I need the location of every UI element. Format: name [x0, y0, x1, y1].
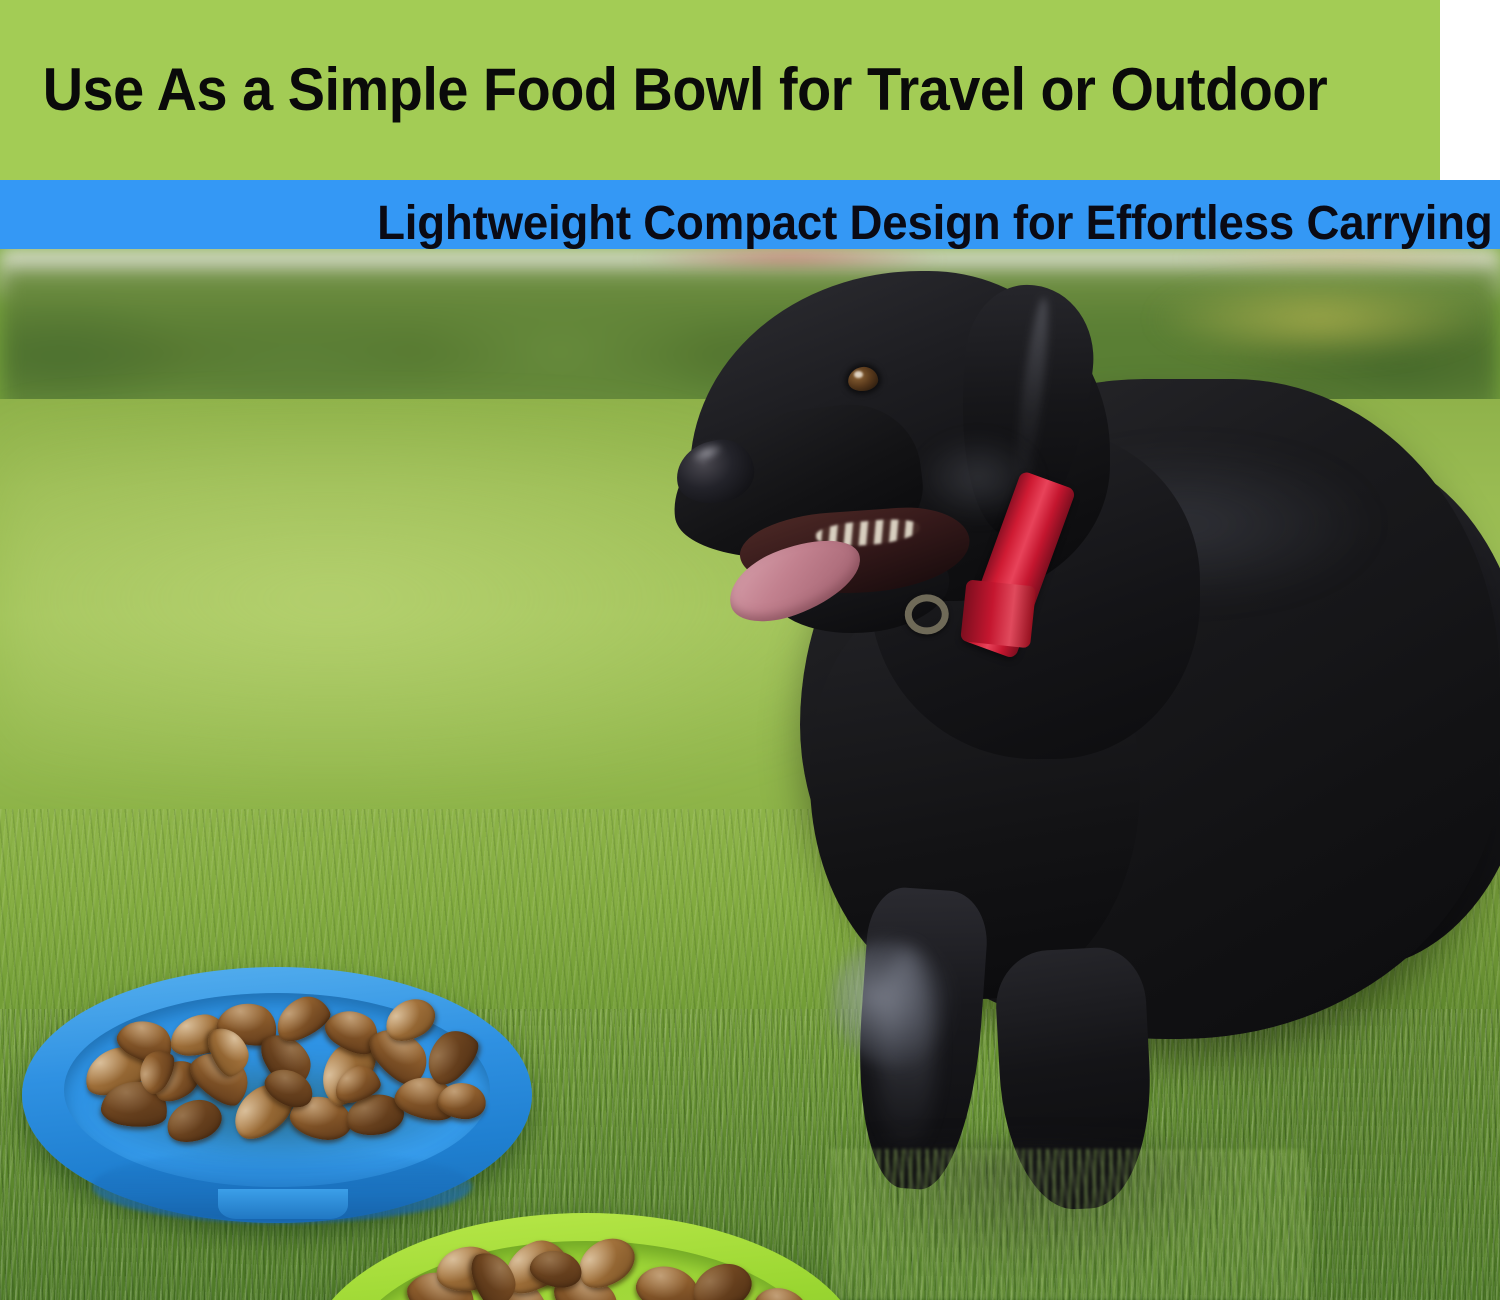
green-bowl-kibble	[350, 1241, 818, 1300]
marketing-image: Use As a Simple Food Bowl for Travel or …	[0, 0, 1500, 1300]
subheadline-banner: Lightweight Compact Design for Effortles…	[0, 180, 1500, 249]
collar-strap-lower	[960, 579, 1036, 648]
headline-banner: Use As a Simple Food Bowl for Travel or …	[0, 0, 1440, 180]
foreground-grass-blades	[830, 1149, 1310, 1299]
dog-eye-glint	[854, 371, 863, 378]
product-photo	[0, 249, 1500, 1300]
subheadline-text: Lightweight Compact Design for Effortles…	[377, 199, 1500, 249]
headline-text: Use As a Simple Food Bowl for Travel or …	[0, 60, 1327, 120]
blue-bowl-kibble	[78, 997, 478, 1161]
hedge-yellow-patch	[1150, 279, 1490, 359]
